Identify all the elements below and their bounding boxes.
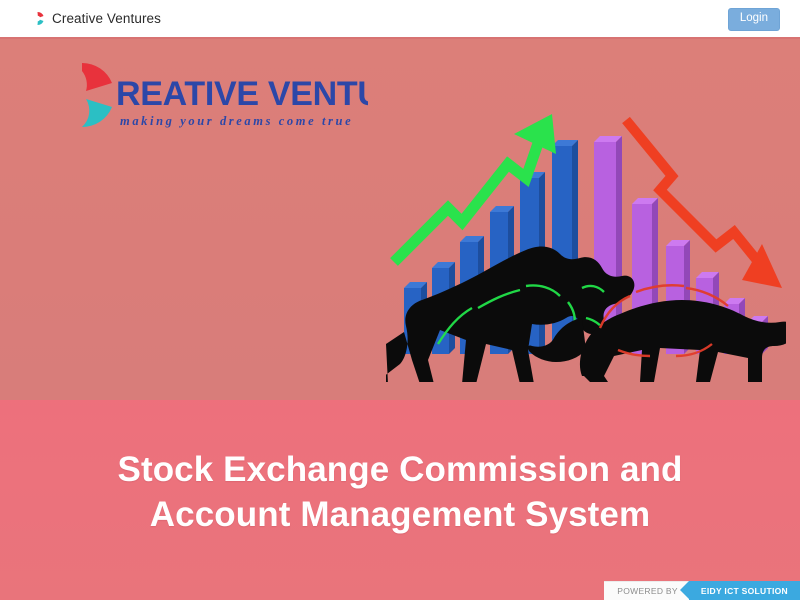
page-title-line-2: Account Management System: [0, 493, 800, 538]
powered-by-label: POWERED BY: [604, 581, 689, 600]
creative-c-crescent-icon: [50, 63, 112, 127]
login-button[interactable]: Login: [728, 8, 780, 31]
creative-c-logo-icon: [30, 11, 45, 26]
page-title-line-1: Stock Exchange Commission and: [0, 448, 800, 493]
powered-by-badge[interactable]: POWERED BY EIDY ICT SOLUTION: [604, 581, 800, 600]
navbar-brand-label: Creative Ventures: [52, 11, 161, 26]
landing-page: Creative Ventures Login REATIVE VENTURES…: [0, 0, 800, 600]
bull-vs-bear-illustration: [386, 112, 786, 382]
hero-logo: REATIVE VENTURES making your dreams come…: [38, 57, 368, 135]
hero-banner: REATIVE VENTURES making your dreams come…: [0, 37, 800, 400]
navbar-brand[interactable]: Creative Ventures: [30, 11, 161, 26]
page-title: Stock Exchange Commission and Account Ma…: [0, 448, 800, 538]
top-navbar: Creative Ventures Login: [0, 0, 800, 37]
svg-text:REATIVE VENTURES: REATIVE VENTURES: [116, 75, 368, 113]
svg-text:making your dreams come true: making your dreams come true: [120, 114, 353, 128]
vendor-label[interactable]: EIDY ICT SOLUTION: [689, 581, 800, 600]
